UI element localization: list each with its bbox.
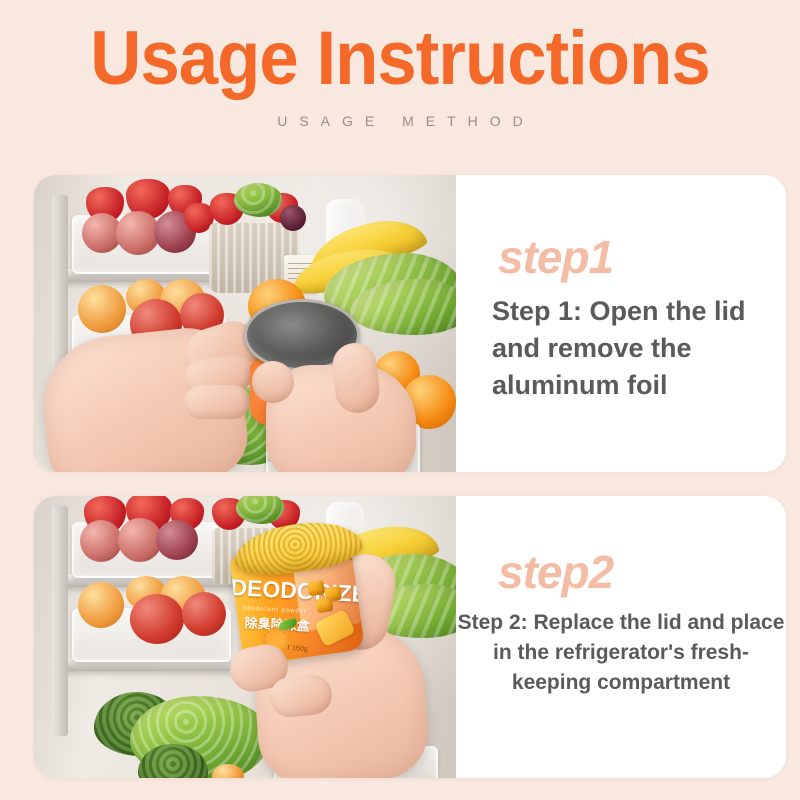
ring-finger	[184, 385, 250, 419]
page-title: Usage Instructions	[28, 16, 772, 102]
plum-fruit	[80, 520, 122, 562]
refrigerator-scene: motton DEODORIZE deodorant powder 除臭除味盒 …	[34, 496, 456, 778]
refrigerator-scene	[34, 175, 456, 472]
page-header: Usage Instructions USAGE METHOD	[0, 0, 800, 160]
step-card-2: motton DEODORIZE deodorant powder 除臭除味盒 …	[34, 496, 786, 778]
apple	[130, 594, 184, 644]
apple	[78, 285, 126, 333]
gel-cube	[307, 580, 325, 596]
step-1-text-pane: step1 Step 1: Open the lid and remove th…	[456, 175, 786, 472]
plum-fruit	[156, 520, 198, 560]
product-name: DEODORIZE	[230, 574, 365, 608]
step-1-label: step1	[498, 233, 613, 281]
step-1-photo	[34, 175, 456, 472]
fridge-door-rail	[52, 506, 68, 736]
apple	[78, 582, 124, 628]
step-2-label: step2	[498, 548, 613, 596]
step-2-body: Step 2: Replace the lid and place in the…	[456, 608, 786, 698]
step-card-1: step1 Step 1: Open the lid and remove th…	[34, 175, 786, 472]
page-subtitle: USAGE METHOD	[0, 113, 800, 129]
step-2-text-pane: step2 Step 2: Replace the lid and place …	[456, 496, 786, 778]
step-1-body: Step 1: Open the lid and remove the alum…	[492, 293, 786, 404]
gel-cube	[316, 597, 334, 613]
grape	[280, 205, 306, 231]
herb-garnish	[234, 183, 282, 217]
step-2-photo: motton DEODORIZE deodorant powder 除臭除味盒 …	[34, 496, 456, 778]
apple	[182, 592, 226, 636]
